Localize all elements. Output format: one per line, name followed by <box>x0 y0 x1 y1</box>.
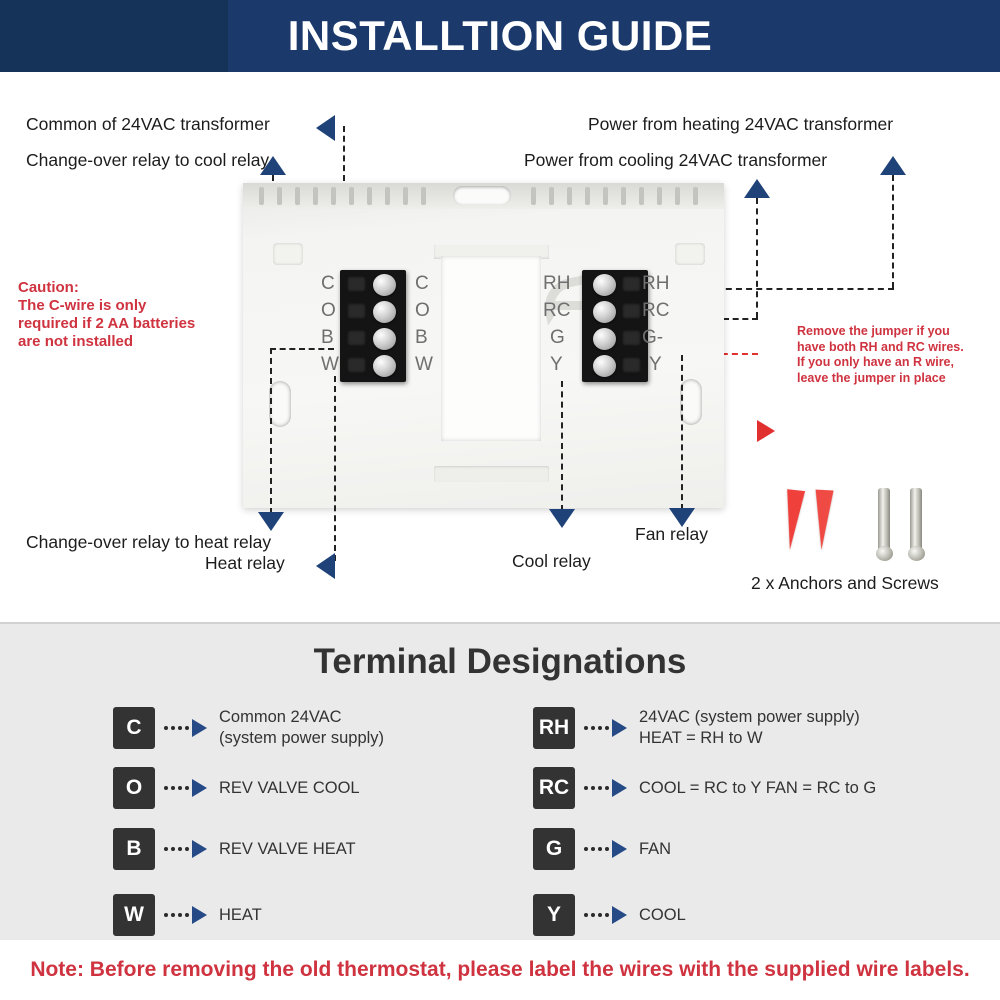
callout-power-heating: Power from heating 24VAC transformer <box>588 114 893 135</box>
arrow-up-changeover-cool <box>260 156 286 175</box>
callout-power-cooling: Power from cooling 24VAC transformer <box>524 150 827 171</box>
label-right-outer-rh: RH <box>642 273 669 295</box>
label-left-inner-b: B <box>415 327 428 349</box>
terminal-chip-b[interactable]: B <box>113 828 155 870</box>
thermostat-baseplate: C O B W C O B W RH RC G Y <box>243 183 724 508</box>
label-right-outer-g: G- <box>642 327 663 349</box>
arrow-up-power-heating <box>880 156 906 175</box>
diagram-area: Common of 24VAC transformer Change-over … <box>0 76 1000 622</box>
screw-terminal-b[interactable] <box>373 328 396 350</box>
arrow-right-icon <box>612 719 627 737</box>
callout-anchors-screws: 2 x Anchors and Screws <box>751 573 939 594</box>
screw-1 <box>878 488 890 552</box>
right-terminal-block[interactable] <box>582 270 648 382</box>
arrow-right-icon <box>192 906 207 924</box>
arrow-right-jumper-note <box>757 420 775 442</box>
arrow-right-icon <box>612 779 627 797</box>
arrow-right-icon <box>612 906 627 924</box>
screw-terminal-rh[interactable] <box>593 274 616 296</box>
terminal-desc-b: REV VALVE HEAT <box>219 839 356 860</box>
label-right-inner-rh: RH <box>543 273 570 295</box>
terminal-row-rh: RH 24VAC (system power supply) HEAT = RH… <box>533 707 860 749</box>
caution-note: Caution: The C-wire is only required if … <box>18 279 195 351</box>
arrow-left-common-24vac <box>316 115 335 141</box>
arrow-up-power-cooling <box>744 179 770 198</box>
leader-w-vertical <box>334 376 336 561</box>
dotted-connector-icon <box>584 726 612 730</box>
arrow-left-heat-relay <box>316 553 335 579</box>
arrow-right-icon <box>192 840 207 858</box>
terminal-row-rc: RC COOL = RC to Y FAN = RC to G <box>533 767 876 809</box>
screw-terminal-rc[interactable] <box>593 301 616 323</box>
leader-b-horizontal <box>270 348 334 350</box>
label-left-inner-o: O <box>415 300 430 322</box>
center-tab-bottom <box>434 466 549 482</box>
label-left-inner-w: W <box>415 354 433 376</box>
terminal-chip-rh[interactable]: RH <box>533 707 575 749</box>
jumper-note-line-1: Remove the jumper if you <box>797 324 964 340</box>
left-terminal-block[interactable] <box>340 270 406 382</box>
leader-g-vertical <box>681 355 683 510</box>
leader-cooling-vertical <box>756 198 758 318</box>
label-left-inner-c: C <box>415 273 429 295</box>
label-right-inner-rc: RC <box>543 300 570 322</box>
label-right-inner-g: G <box>550 327 565 349</box>
terminal-row-y: Y COOL <box>533 894 686 936</box>
jumper-note-line-2: have both RH and RC wires. <box>797 340 964 356</box>
arrow-right-icon <box>192 719 207 737</box>
leader-y-vertical <box>561 381 563 511</box>
dotted-connector-icon <box>164 726 192 730</box>
caution-line-3: required if 2 AA batteries <box>18 315 195 333</box>
mount-hole-left <box>269 381 291 427</box>
terminal-desc-o: REV VALVE COOL <box>219 778 360 799</box>
installation-guide-page: INSTALLTION GUIDE Common of 24VAC transf… <box>0 0 1000 1000</box>
clip-left <box>273 243 303 265</box>
leader-heating-vertical <box>892 175 894 288</box>
terminal-chip-o[interactable]: O <box>113 767 155 809</box>
callout-common-24vac: Common of 24VAC transformer <box>26 114 270 135</box>
screw-terminal-y[interactable] <box>593 355 616 377</box>
dotted-connector-icon <box>164 786 192 790</box>
dotted-connector-icon <box>584 786 612 790</box>
center-wire-opening <box>441 256 541 441</box>
jumper-note: Remove the jumper if you have both RH an… <box>797 324 964 386</box>
label-left-outer-b: B <box>321 327 334 349</box>
terminal-desc-rh: 24VAC (system power supply) HEAT = RH to… <box>639 707 860 749</box>
anchor-1 <box>781 489 805 551</box>
label-left-outer-c: C <box>321 273 335 295</box>
jumper-note-line-3: If you only have an R wire, <box>797 355 964 371</box>
screw-terminal-w[interactable] <box>373 355 396 377</box>
dotted-connector-icon <box>584 913 612 917</box>
terminal-row-o: O REV VALVE COOL <box>113 767 360 809</box>
arrow-right-icon <box>192 779 207 797</box>
terminal-desc-y: COOL <box>639 905 686 926</box>
terminal-row-w: W HEAT <box>113 894 262 936</box>
panel-title: Terminal Designations <box>0 642 1000 682</box>
screw-2-head <box>908 546 925 561</box>
dotted-connector-icon <box>584 847 612 851</box>
dotted-connector-icon <box>164 913 192 917</box>
jumper-note-line-4: leave the jumper in place <box>797 371 964 387</box>
label-right-inner-y: Y <box>550 354 563 376</box>
dotted-connector-icon <box>164 847 192 851</box>
terminal-row-c: C Common 24VAC (system power supply) <box>113 707 384 749</box>
leader-b-vertical <box>270 348 272 514</box>
arrow-down-cool-relay <box>549 509 575 528</box>
terminal-chip-w[interactable]: W <box>113 894 155 936</box>
top-mount-slot <box>453 186 511 205</box>
label-left-outer-o: O <box>321 300 336 322</box>
terminal-chip-rc[interactable]: RC <box>533 767 575 809</box>
screw-terminal-c[interactable] <box>373 274 396 296</box>
arrow-down-changeover-heat <box>258 512 284 531</box>
terminal-designations-panel: Terminal Designations C Common 24VAC (sy… <box>0 622 1000 940</box>
caution-line-1: Caution: <box>18 279 195 297</box>
screw-terminal-o[interactable] <box>373 301 396 323</box>
terminal-desc-c: Common 24VAC (system power supply) <box>219 707 384 749</box>
terminal-chip-c[interactable]: C <box>113 707 155 749</box>
caution-line-4: are not installed <box>18 333 195 351</box>
clip-right <box>675 243 705 265</box>
screw-2 <box>910 488 922 552</box>
callout-heat-relay: Heat relay <box>205 553 285 574</box>
anchor-2 <box>812 490 833 551</box>
callout-cool-relay: Cool relay <box>512 551 591 572</box>
header-bar: INSTALLTION GUIDE <box>0 0 1000 72</box>
label-left-outer-w: W <box>321 354 339 376</box>
callout-changeover-cool: Change-over relay to cool relay <box>26 150 269 171</box>
label-right-outer-y: Y <box>649 354 662 376</box>
terminal-row-g: G FAN <box>533 828 671 870</box>
arrow-right-icon <box>612 840 627 858</box>
footer-note-bar: Note: Before removing the old thermostat… <box>0 940 1000 1000</box>
callout-fan-relay: Fan relay <box>635 524 708 545</box>
terminal-chip-y[interactable]: Y <box>533 894 575 936</box>
label-right-outer-rc: RC <box>642 300 669 322</box>
terminal-desc-w: HEAT <box>219 905 262 926</box>
terminal-chip-g[interactable]: G <box>533 828 575 870</box>
callout-changeover-heat: Change-over relay to heat relay <box>26 532 271 553</box>
mount-hole-right <box>680 379 702 425</box>
screw-1-head <box>876 546 893 561</box>
terminal-row-b: B REV VALVE HEAT <box>113 828 356 870</box>
screw-terminal-g[interactable] <box>593 328 616 350</box>
terminal-desc-rc: COOL = RC to Y FAN = RC to G <box>639 778 876 799</box>
footer-note: Note: Before removing the old thermostat… <box>30 958 969 982</box>
page-title: INSTALLTION GUIDE <box>0 0 1000 72</box>
caution-line-2: The C-wire is only <box>18 297 195 315</box>
terminal-desc-g: FAN <box>639 839 671 860</box>
